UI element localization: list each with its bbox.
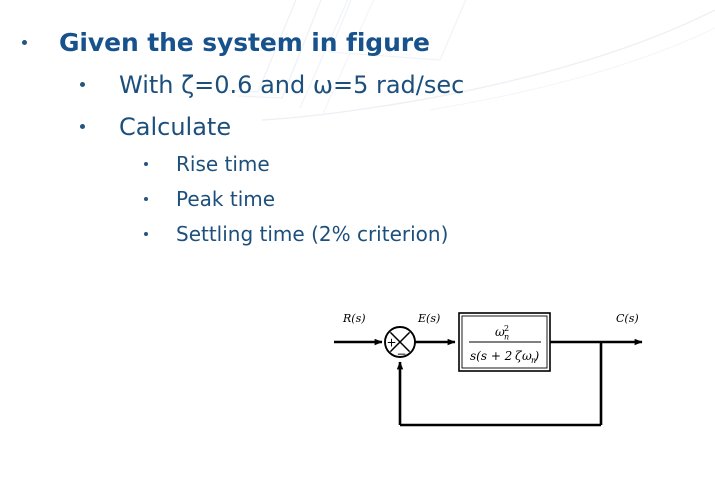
bullet-row-title: Given the system in figure [22,28,715,57]
bullet-row-parameters: With ζ=0.6 and ω=5 rad/sec [80,71,715,99]
bullet-marker-icon [144,232,148,236]
transfer-function-numerator: ω n 2 [495,324,509,342]
list-item-settling-time: Settling time (2% criterion) [176,222,448,246]
tf-den-lead: s(s + 2 [470,349,512,363]
bullet-marker-icon [144,197,148,201]
bullet-row-calculate: Calculate [80,113,715,141]
input-label-Rs: R(s) [342,312,366,325]
page-title: Given the system in figure [59,28,430,57]
list-item-parameters: With ζ=0.6 and ω=5 rad/sec [119,71,464,99]
list-item-calculate: Calculate [119,113,231,141]
bullet-marker-icon [80,82,85,87]
bullet-row-settling-time: Settling time (2% criterion) [144,222,715,246]
block-diagram-figure: R(s) + − E(s) ω n 2 s(s + 2 ζ ω n ) C( [330,296,670,446]
tf-den-close: ) [534,349,540,363]
transfer-function-denominator: s(s + 2 ζ ω n ) [470,349,540,365]
sum-plus-sign: + [387,336,397,350]
error-label-Es: E(s) [417,312,440,325]
slide-content: Given the system in figure With ζ=0.6 an… [0,0,715,246]
output-label-Cs: C(s) [616,312,639,325]
bullet-row-peak-time: Peak time [144,187,715,211]
sum-minus-sign: − [397,347,407,361]
list-item-peak-time: Peak time [176,187,275,211]
tf-num-exponent: 2 [504,324,509,333]
bullet-marker-icon [22,40,27,45]
transfer-function-block: ω n 2 s(s + 2 ζ ω n ) [459,313,550,371]
bullet-row-rise-time: Rise time [144,152,715,176]
tf-num-subscript: n [504,333,509,342]
bullet-marker-icon [80,124,85,129]
bullet-marker-icon [144,162,148,166]
summing-junction: + − [385,327,415,361]
list-item-rise-time: Rise time [176,152,270,176]
